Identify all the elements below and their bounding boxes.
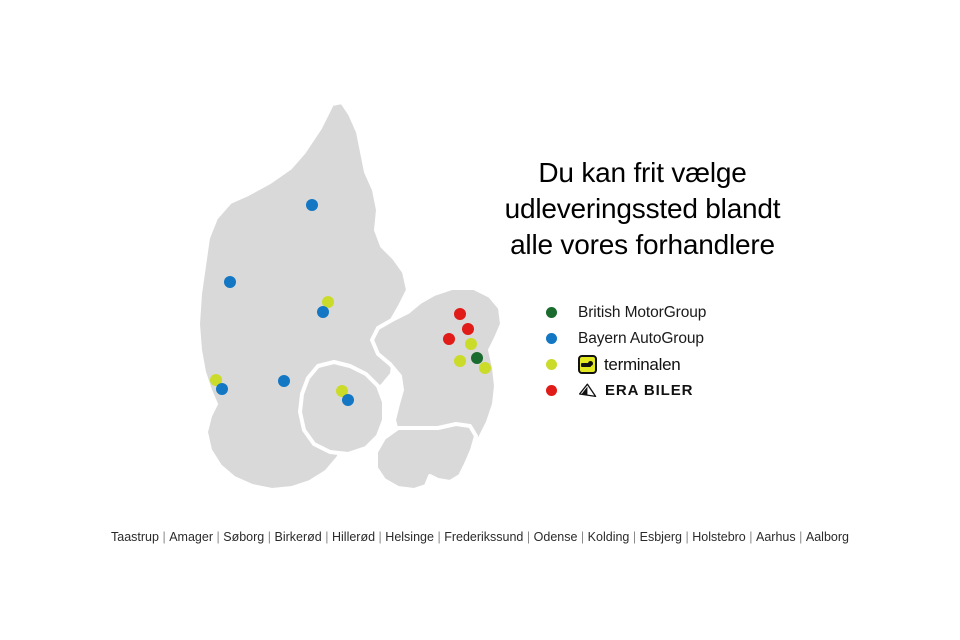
legend-item-bayern-autogroup[interactable]: Bayern AutoGroup [546, 326, 806, 351]
city-separator: | [213, 530, 223, 544]
brand-legend: British MotorGroup Bayern AutoGroup term… [546, 300, 806, 404]
city-separator: | [746, 530, 756, 544]
map-marker-hillerod[interactable]: ERA BILER [462, 323, 474, 335]
map-marker-holstebro[interactable]: Bayern AutoGroup [224, 276, 236, 288]
headline-line-2: udleveringssted blandt [470, 191, 815, 227]
page-title: Du kan frit vælge udleveringssted blandt… [470, 155, 815, 263]
city-separator: | [322, 530, 332, 544]
map-marker-esbjerg-bayern[interactable]: Bayern AutoGroup [216, 383, 228, 395]
landmass-lolland [376, 424, 476, 490]
denmark-map: Bayern AutoGroupBayern AutoGroupterminal… [186, 98, 516, 500]
headline-line-1: Du kan frit vælge [470, 155, 815, 191]
era-triangle-icon [578, 383, 598, 398]
city-frederikssund: Frederikssund [444, 530, 523, 544]
map-marker-aalborg[interactable]: Bayern AutoGroup [306, 199, 318, 211]
map-marker-frederikssund[interactable]: ERA BILER [443, 333, 455, 345]
legend-item-era-biler[interactable]: ERA BILER [546, 378, 806, 403]
city-separator: | [159, 530, 169, 544]
map-marker-soborg[interactable]: terminalen [454, 355, 466, 367]
city-separator: | [682, 530, 692, 544]
city-separator: | [796, 530, 806, 544]
city-s-borg: Søborg [223, 530, 264, 544]
map-svg: Bayern AutoGroupBayern AutoGroupterminal… [186, 98, 516, 500]
map-marker-taastrup[interactable]: terminalen [479, 362, 491, 374]
legend-dot-bayern-autogroup [546, 333, 557, 344]
city-separator: | [434, 530, 444, 544]
terminalen-logo-icon [578, 355, 597, 374]
map-marker-aarhus-bayern[interactable]: Bayern AutoGroup [317, 306, 329, 318]
city-separator: | [523, 530, 533, 544]
map-marker-helsinge[interactable]: ERA BILER [454, 308, 466, 320]
legend-label-bayern-autogroup: Bayern AutoGroup [578, 330, 704, 347]
city-taastrup: Taastrup [111, 530, 159, 544]
city-amager: Amager [169, 530, 213, 544]
legend-label-british-motorgroup: British MotorGroup [578, 304, 706, 321]
city-holstebro: Holstebro [692, 530, 746, 544]
map-marker-amager[interactable]: British MotorGroup [471, 352, 483, 364]
city-list: Taastrup|Amager|Søborg|Birkerød|Hillerød… [0, 528, 960, 546]
city-separator: | [375, 530, 385, 544]
terminalen-logo: terminalen [578, 355, 680, 375]
city-separator: | [629, 530, 639, 544]
legend-dot-era-biler [546, 385, 557, 396]
map-marker-kolding[interactable]: Bayern AutoGroup [278, 375, 290, 387]
legend-label-terminalen: terminalen [604, 355, 680, 375]
city-odense: Odense [534, 530, 578, 544]
city-helsinge: Helsinge [385, 530, 434, 544]
map-landmasses [198, 102, 502, 490]
legend-dot-terminalen [546, 359, 557, 370]
city-separator: | [264, 530, 274, 544]
legend-dot-british-motorgroup [546, 307, 557, 318]
legend-label-era-biler: ERA BILER [605, 382, 693, 399]
map-marker-birkerod[interactable]: terminalen [465, 338, 477, 350]
map-marker-odense-bayern[interactable]: Bayern AutoGroup [342, 394, 354, 406]
poster-canvas: Bayern AutoGroupBayern AutoGroupterminal… [0, 0, 960, 640]
legend-item-british-motorgroup[interactable]: British MotorGroup [546, 300, 806, 325]
city-aalborg: Aalborg [806, 530, 849, 544]
city-birker-d: Birkerød [275, 530, 322, 544]
era-biler-logo: ERA BILER [578, 382, 693, 399]
city-separator: | [577, 530, 587, 544]
city-kolding: Kolding [588, 530, 630, 544]
headline-line-3: alle vores forhandlere [470, 227, 815, 263]
city-esbjerg: Esbjerg [640, 530, 682, 544]
city-hiller-d: Hillerød [332, 530, 375, 544]
legend-item-terminalen[interactable]: terminalen [546, 352, 806, 377]
city-aarhus: Aarhus [756, 530, 796, 544]
